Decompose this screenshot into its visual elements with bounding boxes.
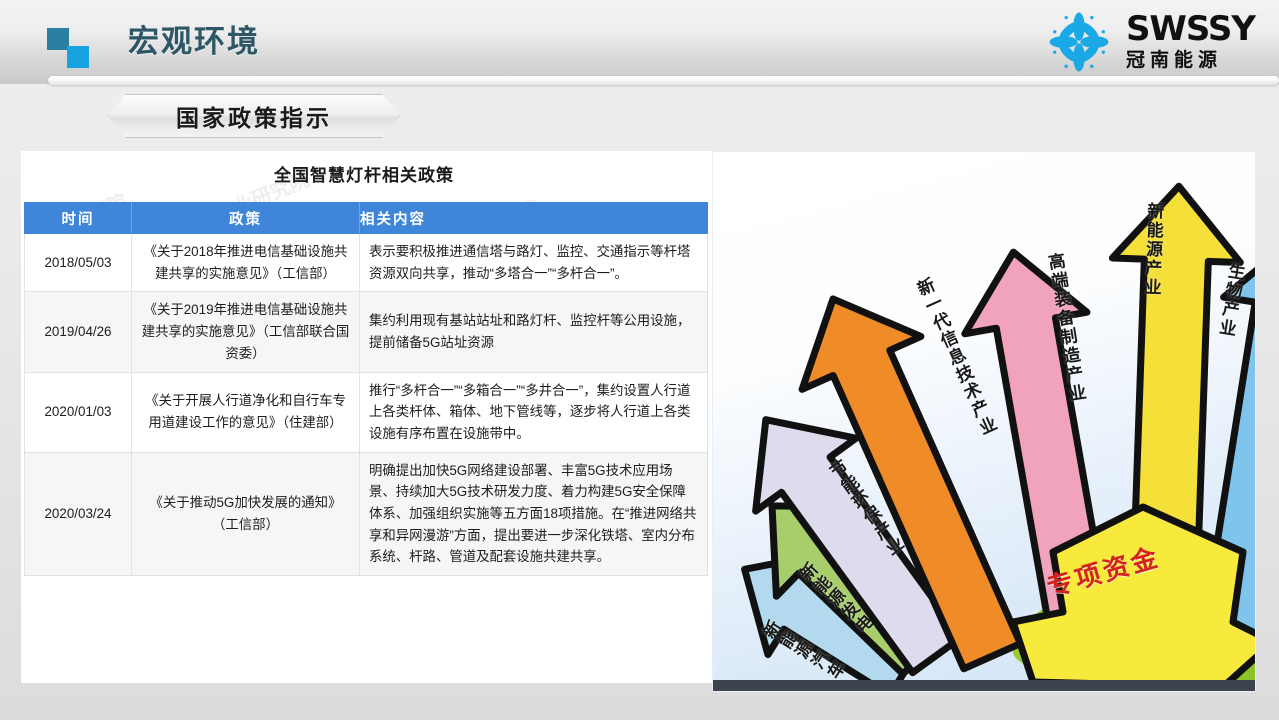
table-row: 2020/03/24 《关于推动5G加快发展的通知》（工信部） 明确提出加快5G… [25,452,708,576]
table-row: 2018/05/03 《关于2018年推进电信基础设施共建共享的实施意见》（工信… [25,234,708,292]
brand-logo: SWSSY 冠南能源 [1046,8,1255,76]
table-row: 2020/01/03 《关于开展人行道净化和自行车专用道建设工作的意见》（住建部… [25,372,708,452]
brand-name: SWSSY [1126,12,1255,46]
brand-subtitle: 冠南能源 [1126,49,1222,73]
section-tab-label: 国家政策指示 [176,99,332,133]
water-droplet-burst-icon [1046,10,1112,74]
strategic-industries-arrows-illustration: 新能源汽车 新能源发电 节能环保产业 新一代信息技术产业 [712,151,1256,692]
header-divider [48,76,1279,85]
page-title: 宏观环境 [128,20,260,64]
cell-content: 推行“多杆合一”“多箱合一”“多井合一”，集约设置人行道上各类杆体、箱体、地下管… [360,372,708,452]
column-header-policy: 政策 [132,203,360,234]
square-dark [47,28,69,50]
cell-time: 2020/01/03 [25,372,132,452]
cell-time: 2020/03/24 [25,452,132,576]
cell-policy: 《关于开展人行道净化和自行车专用道建设工作的意见》（住建部） [132,372,360,452]
cell-policy: 《关于推动5G加快发展的通知》（工信部） [132,452,360,576]
cell-content: 集约利用现有基站站址和路灯杆、监控杆等公用设施，提前储备5G站址资源 [360,292,708,372]
cell-policy: 《关于2018年推进电信基础设施共建共享的实施意见》（工信部） [132,234,360,292]
cell-policy: 《关于2019年推进电信基础设施共建共享的实施意见》（工信部联合国资委） [132,292,360,372]
table-title: 全国智慧灯杆相关政策 [21,161,707,186]
cell-time: 2018/05/03 [25,234,132,292]
column-header-content: 相关内容 [360,203,708,234]
page-header: 宏观环境 SWSSY 冠南能源 [0,0,1279,84]
cell-content: 表示要积极推进通信塔与路灯、监控、交通指示等杆塔资源双向共享，推动“多塔合一”“… [360,234,708,292]
illustration-bottom-bar [713,680,1255,691]
table-row: 2019/04/26 《关于2019年推进电信基础设施共建共享的实施意见》（工信… [25,292,708,372]
cell-content: 明确提出加快5G网络建设部署、丰富5G技术应用场景、持续加大5G技术研发力度、着… [360,452,708,576]
column-header-time: 时间 [25,203,132,234]
section-tab[interactable]: 国家政策指示 [108,94,400,138]
cell-time: 2019/04/26 [25,292,132,372]
policy-table: 时间 政策 相关内容 2018/05/03 《关于2018年推进电信基础设施共建… [24,202,708,576]
table-header-row: 时间 政策 相关内容 [25,203,708,234]
two-squares-icon [47,28,97,68]
special-fund-block [993,492,1256,692]
square-light [67,46,89,68]
